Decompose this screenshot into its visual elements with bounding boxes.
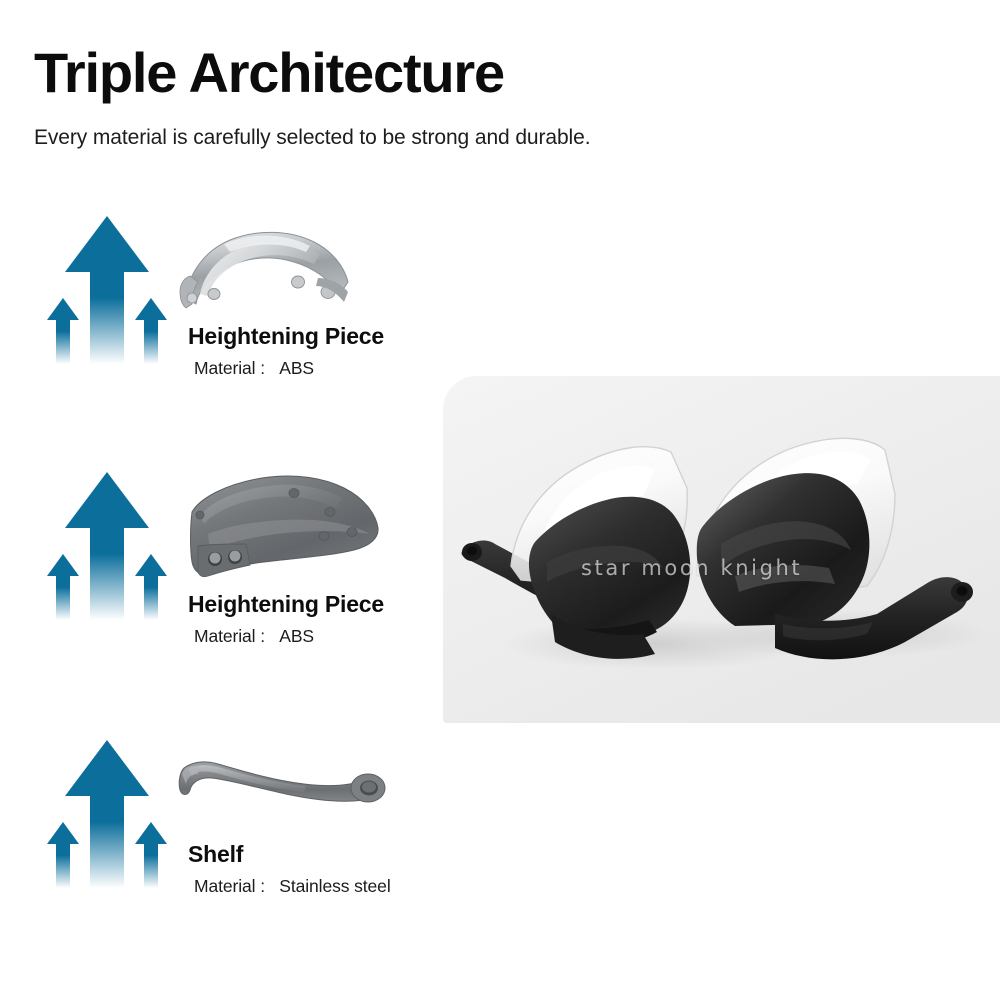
material-value: ABS <box>279 626 314 646</box>
material-label: Material : <box>194 626 265 646</box>
handguard-shield-part <box>178 462 383 592</box>
component-material: Material : ABS <box>188 358 384 379</box>
component-material: Material : ABS <box>188 626 384 647</box>
component-name: Heightening Piece <box>188 590 384 619</box>
up-arrows-icon <box>44 468 170 620</box>
component-name: Heightening Piece <box>188 322 384 351</box>
page-subtitle: Every material is carefully selected to … <box>34 126 590 150</box>
component-3-labels: Shelf Material : Stainless steel <box>188 840 391 897</box>
component-name: Shelf <box>188 840 391 869</box>
material-label: Material : <box>194 876 265 896</box>
handguards-product-image <box>443 376 1000 723</box>
product-photo-panel: star moon knight <box>443 376 1000 723</box>
component-material: Material : Stainless steel <box>188 876 391 897</box>
component-2-labels: Heightening Piece Material : ABS <box>188 590 384 647</box>
up-arrows-icon <box>44 212 170 364</box>
triple-up-arrow-glyph <box>44 468 170 620</box>
steel-shelf-bracket-part <box>178 746 388 818</box>
triple-up-arrow-glyph <box>44 736 170 888</box>
material-label: Material : <box>194 358 265 378</box>
up-arrows-icon <box>44 736 170 888</box>
component-1-labels: Heightening Piece Material : ABS <box>188 322 384 379</box>
clear-windscreen-extension-part <box>178 226 353 314</box>
triple-up-arrow-glyph <box>44 212 170 364</box>
page-title: Triple Architecture <box>34 44 504 103</box>
material-value: ABS <box>279 358 314 378</box>
infographic-page: Triple Architecture Every material is ca… <box>0 0 1000 1000</box>
material-value: Stainless steel <box>279 876 390 896</box>
